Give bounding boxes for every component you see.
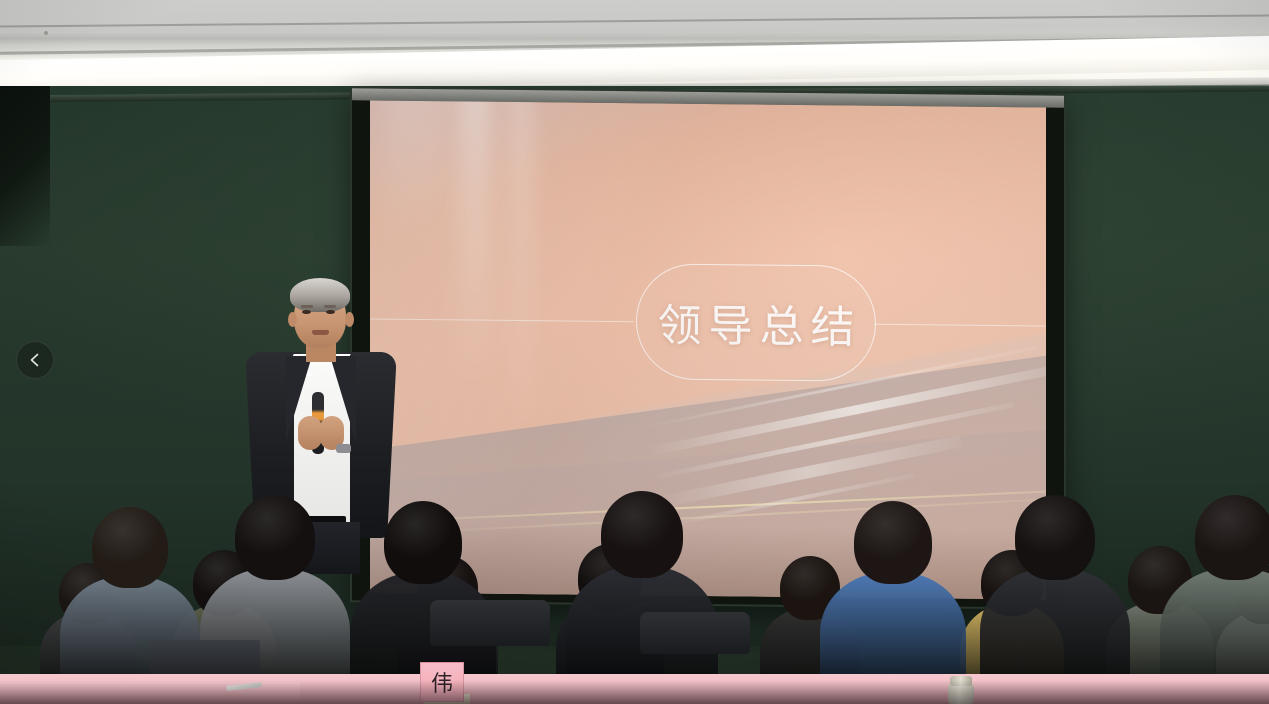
presenter-ear — [345, 312, 354, 327]
presenter-brow — [301, 305, 313, 308]
conference-room-photo: 领导总结 — [0, 0, 1269, 704]
ceiling — [0, 0, 1269, 96]
previous-photo-button[interactable] — [16, 341, 54, 379]
laptop — [150, 640, 260, 674]
audience-member — [566, 388, 718, 704]
audience-member-head — [92, 507, 168, 588]
audience-member-head — [235, 495, 315, 580]
audience-member-head — [1195, 495, 1269, 580]
audience-member — [350, 390, 496, 704]
presenter-eye — [326, 310, 335, 314]
ceiling-seam — [0, 14, 1269, 27]
wall-corner-shadow — [0, 86, 50, 246]
audience-member — [820, 390, 966, 704]
audience-member — [1160, 388, 1269, 704]
audience-member-head — [601, 491, 683, 578]
screen-glare — [458, 100, 492, 381]
slide-title: 领导总结 — [651, 289, 862, 355]
audience-member-head — [854, 501, 932, 584]
presenter-mouth — [312, 330, 329, 335]
audience-member — [980, 388, 1130, 704]
chair-back — [640, 612, 750, 654]
water-bottle — [948, 676, 974, 704]
slide-title-pill: 领导总结 — [636, 263, 876, 382]
presenter-eye — [302, 310, 311, 314]
slide-rule-left — [370, 318, 634, 322]
presenter-ear — [288, 312, 297, 327]
presenter-hair — [290, 278, 350, 312]
ceiling-fixture-dot — [44, 31, 48, 35]
audience-member-head — [1015, 495, 1095, 580]
name-placard: 伟 — [420, 662, 464, 702]
chair-back — [430, 600, 550, 646]
screen-glare — [386, 100, 446, 261]
slide-rule-right — [874, 324, 1046, 327]
presenter-brow — [324, 305, 336, 308]
screen-glare — [510, 100, 532, 442]
audience-member-head — [384, 501, 462, 584]
chevron-left-icon — [27, 352, 43, 368]
